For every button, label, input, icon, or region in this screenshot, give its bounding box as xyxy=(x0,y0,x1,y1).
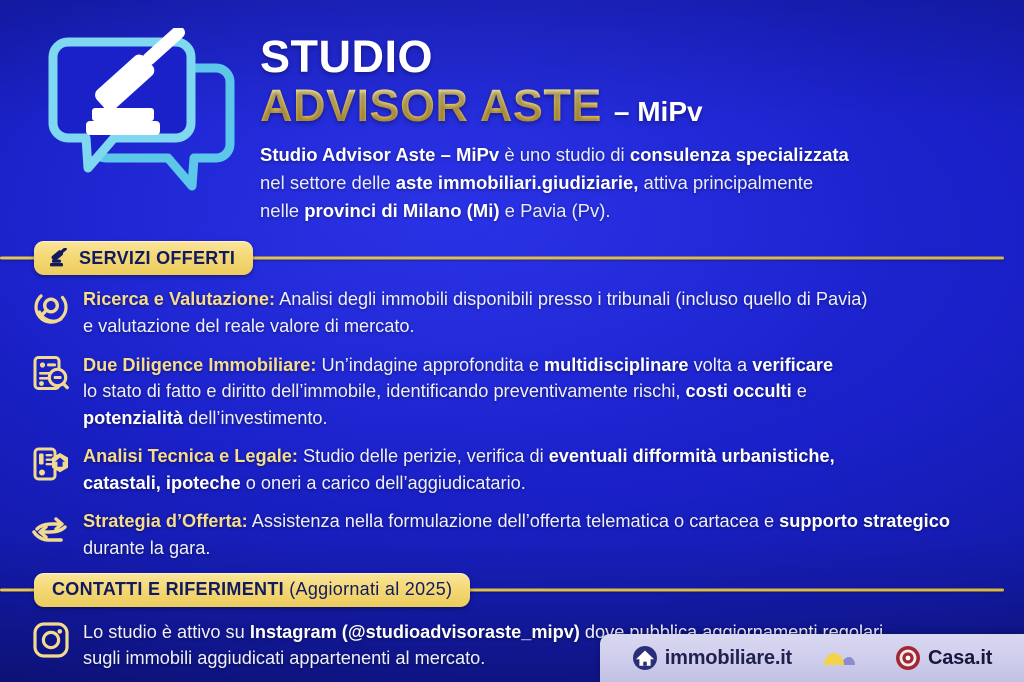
service-item-ricerca: Ricerca e Valutazione: Analisi degli imm… xyxy=(32,285,1002,339)
header-text-block: STUDIO ADVISOR ASTE – MiPv Studio Adviso… xyxy=(246,24,849,225)
header: STUDIO ADVISOR ASTE – MiPv Studio Adviso… xyxy=(0,0,1024,225)
services-badge: SERVIZI OFFERTI xyxy=(34,241,253,275)
service-item-strategia: Strategia d’Offerta: Assistenza nella fo… xyxy=(32,507,1002,561)
service-body-2a: Un’indagine approfondita e xyxy=(316,355,544,375)
intro-p3-bold: provinci di Milano (Mi) xyxy=(304,200,499,221)
intro-p2-bold: aste immobiliari.giudiziarie, xyxy=(396,172,639,193)
instagram-icon[interactable] xyxy=(32,619,72,664)
building-report-icon xyxy=(32,442,72,483)
service-bold-2a: multidisciplinare xyxy=(544,355,689,375)
service-item-ricerca-text: Ricerca e Valutazione: Analisi degli imm… xyxy=(83,285,867,339)
intro-p2-post: attiva principalmente xyxy=(638,172,813,193)
service-lead-3: Analisi Tecnica e Legale: xyxy=(83,446,298,466)
contacts-badge-note: (Aggiornati al 2025) xyxy=(289,579,452,599)
service-lead-1: Ricerca e Valutazione: xyxy=(83,289,275,309)
services-section-header: SERVIZI OFFERTI xyxy=(0,241,1024,275)
contacts-badge-label: CONTATTI E RIFERIMENTI (Aggiornati al 20… xyxy=(52,579,452,600)
service-bold-2d: potenzialità xyxy=(83,408,183,428)
immobiliare-house-icon xyxy=(632,645,658,671)
gavel-speech-bubble-logo xyxy=(46,28,246,213)
contacts-badge: CONTATTI E RIFERIMENTI (Aggiornati al 20… xyxy=(34,573,470,607)
contacts-line2: sugli immobili aggiudicati appartenenti … xyxy=(83,648,485,668)
partner-logo-bar: immobiliare.it Casa.it xyxy=(600,634,1024,682)
contacts-line1-pre: Lo studio è attivo su xyxy=(83,622,250,642)
service-item-due-diligence: Due Diligence Immobiliare: Un’indagine a… xyxy=(32,351,1002,432)
page-title-gold: ADVISOR ASTE xyxy=(260,82,602,129)
partner-immobiliare-label: immobiliare.it xyxy=(665,647,792,670)
contacts-instagram-handle: Instagram (@studioadvisoraste_mipv) xyxy=(250,622,580,642)
service-bold-3a: eventuali difformità urbanistiche, xyxy=(549,446,835,466)
intro-p3-post: e Pavia (Pv). xyxy=(500,200,611,221)
service-bold-4a: supporto strategico xyxy=(779,511,950,531)
service-item-analisi-tecnica-text: Analisi Tecnica e Legale: Studio delle p… xyxy=(83,442,835,496)
service-body-2d: e xyxy=(792,381,807,401)
service-body-3a: Studio delle perizie, verifica di xyxy=(298,446,549,466)
services-badge-label: SERVIZI OFFERTI xyxy=(79,248,235,269)
handshake-offer-icon xyxy=(32,507,72,544)
service-body-4a: Assistenza nella formulazione dell’offer… xyxy=(248,511,779,531)
intro-paragraph: Studio Advisor Aste – MiPv è uno studio … xyxy=(260,141,849,225)
casa-target-icon xyxy=(895,645,921,671)
contacts-section-header: CONTATTI E RIFERIMENTI (Aggiornati al 20… xyxy=(0,573,1024,607)
service-body-3b: o oneri a carico dell’aggiudicatario. xyxy=(241,473,526,493)
service-body-2b: volta a xyxy=(689,355,753,375)
contacts-badge-title: CONTATTI E RIFERIMENTI xyxy=(52,579,284,599)
intro-p3-pre: nelle xyxy=(260,200,304,221)
service-body-4b: durante la gara. xyxy=(83,538,210,558)
service-item-due-diligence-text: Due Diligence Immobiliare: Un’indagine a… xyxy=(83,351,833,432)
intro-p2-pre: nel settore delle xyxy=(260,172,396,193)
service-lead-2: Due Diligence Immobiliare: xyxy=(83,355,316,375)
magnifier-circle-icon xyxy=(32,285,72,326)
partner-immobiliare[interactable]: immobiliare.it xyxy=(632,645,792,671)
service-item-analisi-tecnica: Analisi Tecnica e Legale: Studio delle p… xyxy=(32,442,1002,496)
intro-bold-consulenza: consulenza specializzata xyxy=(630,144,849,165)
service-lead-4: Strategia d’Offerta: xyxy=(83,511,248,531)
intro-bold-studio: Studio Advisor Aste – MiPv xyxy=(260,144,499,165)
services-list: Ricerca e Valutazione: Analisi degli imm… xyxy=(0,275,1024,561)
service-body-1a: Analisi degli immobili disponibili press… xyxy=(275,289,867,309)
service-item-strategia-text: Strategia d’Offerta: Assistenza nella fo… xyxy=(83,507,950,561)
service-bold-2c: costi occulti xyxy=(686,381,792,401)
page-title-suffix: – MiPv xyxy=(614,97,703,126)
service-bold-3b: catastali, ipoteche xyxy=(83,473,241,493)
partner-casa[interactable]: Casa.it xyxy=(895,645,992,671)
intro-mid: è uno studio di xyxy=(499,144,630,165)
gavel-icon xyxy=(48,248,70,268)
page-title-line1: STUDIO xyxy=(260,34,849,80)
service-body-2c: lo stato di fatto e diritto dell’immobil… xyxy=(83,381,686,401)
partner-idealista[interactable] xyxy=(820,646,867,670)
service-bold-2b: verificare xyxy=(752,355,833,375)
idealista-clouds-icon xyxy=(820,646,860,670)
partner-casa-label: Casa.it xyxy=(928,647,992,670)
document-search-icon xyxy=(32,351,72,392)
service-body-2e: dell’investimento. xyxy=(183,408,328,428)
service-body-1b: e valutazione del reale valore di mercat… xyxy=(83,316,415,336)
poster-canvas: STUDIO ADVISOR ASTE – MiPv Studio Adviso… xyxy=(0,0,1024,682)
page-title-line2: ADVISOR ASTE – MiPv xyxy=(260,82,849,129)
